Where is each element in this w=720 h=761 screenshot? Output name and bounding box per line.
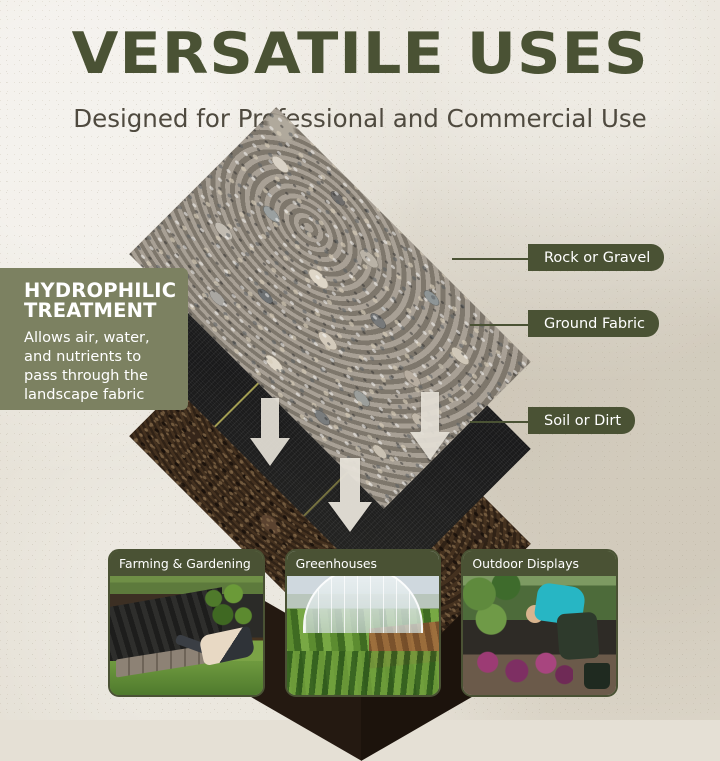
hydrophilic-heading-line2: TREATMENT bbox=[24, 299, 157, 322]
label-soil-or-dirt: Soil or Dirt bbox=[528, 407, 635, 434]
hydrophilic-heading: HYDROPHILIC TREATMENT bbox=[24, 281, 176, 322]
card-greenhouses: Greenhouses bbox=[285, 549, 442, 697]
card-farming-gardening: Farming & Gardening bbox=[108, 549, 265, 697]
label-rock-or-gravel: Rock or Gravel bbox=[528, 244, 664, 271]
flow-arrow-left bbox=[250, 398, 290, 468]
page-title: VERSATILE USES bbox=[0, 26, 720, 83]
flow-arrow-center bbox=[328, 458, 372, 534]
leader-line-rock bbox=[452, 258, 530, 260]
page-title-text: VERSATILE USES bbox=[72, 26, 649, 83]
flow-arrow-right bbox=[410, 392, 450, 462]
card-title-outdoor-displays: Outdoor Displays bbox=[463, 551, 616, 576]
use-case-cards: Farming & Gardening Greenhouses Outdoor bbox=[108, 549, 618, 697]
card-title-greenhouses: Greenhouses bbox=[287, 551, 440, 576]
hydrophilic-treatment-callout: HYDROPHILIC TREATMENT Allows air, water,… bbox=[0, 268, 188, 410]
hydrophilic-body: Allows air, water, and nutrients to pass… bbox=[24, 329, 176, 405]
label-ground-fabric: Ground Fabric bbox=[528, 310, 659, 337]
card-outdoor-displays: Outdoor Displays bbox=[461, 549, 618, 697]
page-root: VERSATILE USES Designed for Professional… bbox=[0, 0, 720, 720]
card-title-farming: Farming & Gardening bbox=[110, 551, 263, 576]
leader-line-soil bbox=[470, 421, 530, 423]
rock-gravel-layer bbox=[150, 128, 510, 488]
leader-line-fabric bbox=[470, 324, 530, 326]
rock-surface bbox=[129, 107, 530, 508]
